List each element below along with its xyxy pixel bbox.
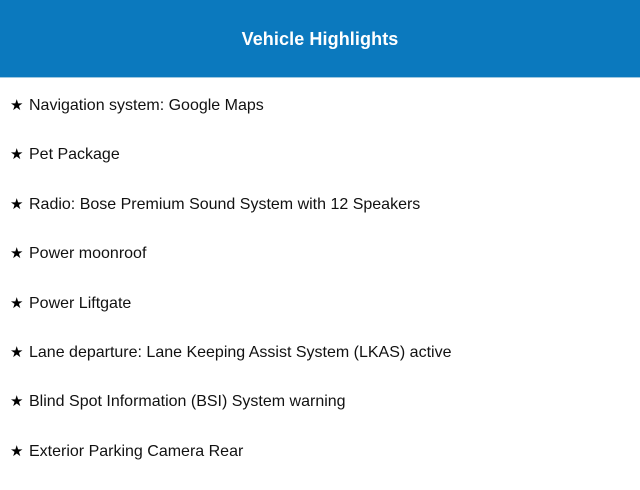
list-item-label: Lane departure: Lane Keeping Assist Syst… bbox=[29, 342, 451, 363]
list-item-label: Blind Spot Information (BSI) System warn… bbox=[29, 391, 346, 412]
list-item: ★ Blind Spot Information (BSI) System wa… bbox=[0, 391, 640, 440]
list-item: ★ Pet Package bbox=[0, 144, 640, 193]
list-item: ★ Radio: Bose Premium Sound System with … bbox=[0, 194, 640, 243]
vehicle-highlights-list: ★ Navigation system: Google Maps ★ Pet P… bbox=[0, 78, 640, 490]
panel-header: Vehicle Highlights bbox=[0, 0, 640, 78]
list-item-label: Power Liftgate bbox=[29, 293, 131, 314]
list-item-label: Radio: Bose Premium Sound System with 12… bbox=[29, 194, 420, 215]
star-icon: ★ bbox=[10, 293, 29, 314]
page-title: Vehicle Highlights bbox=[242, 30, 399, 48]
star-icon: ★ bbox=[10, 243, 29, 264]
star-icon: ★ bbox=[10, 342, 29, 363]
list-item: ★ Navigation system: Google Maps bbox=[0, 95, 640, 144]
star-icon: ★ bbox=[10, 95, 29, 116]
list-item-label: Power moonroof bbox=[29, 243, 146, 264]
list-item-label: Navigation system: Google Maps bbox=[29, 95, 264, 116]
star-icon: ★ bbox=[10, 144, 29, 165]
list-item: ★ Power moonroof bbox=[0, 243, 640, 292]
list-item-label: Exterior Parking Camera Rear bbox=[29, 441, 243, 462]
star-icon: ★ bbox=[10, 391, 29, 412]
list-item: ★ Power Liftgate bbox=[0, 293, 640, 342]
star-icon: ★ bbox=[10, 194, 29, 215]
star-icon: ★ bbox=[10, 441, 29, 462]
list-item: ★ Exterior Parking Camera Rear bbox=[0, 441, 640, 490]
list-item-label: Pet Package bbox=[29, 144, 120, 165]
vehicle-highlights-panel: Vehicle Highlights ★ Navigation system: … bbox=[0, 0, 640, 480]
list-item: ★ Lane departure: Lane Keeping Assist Sy… bbox=[0, 342, 640, 391]
